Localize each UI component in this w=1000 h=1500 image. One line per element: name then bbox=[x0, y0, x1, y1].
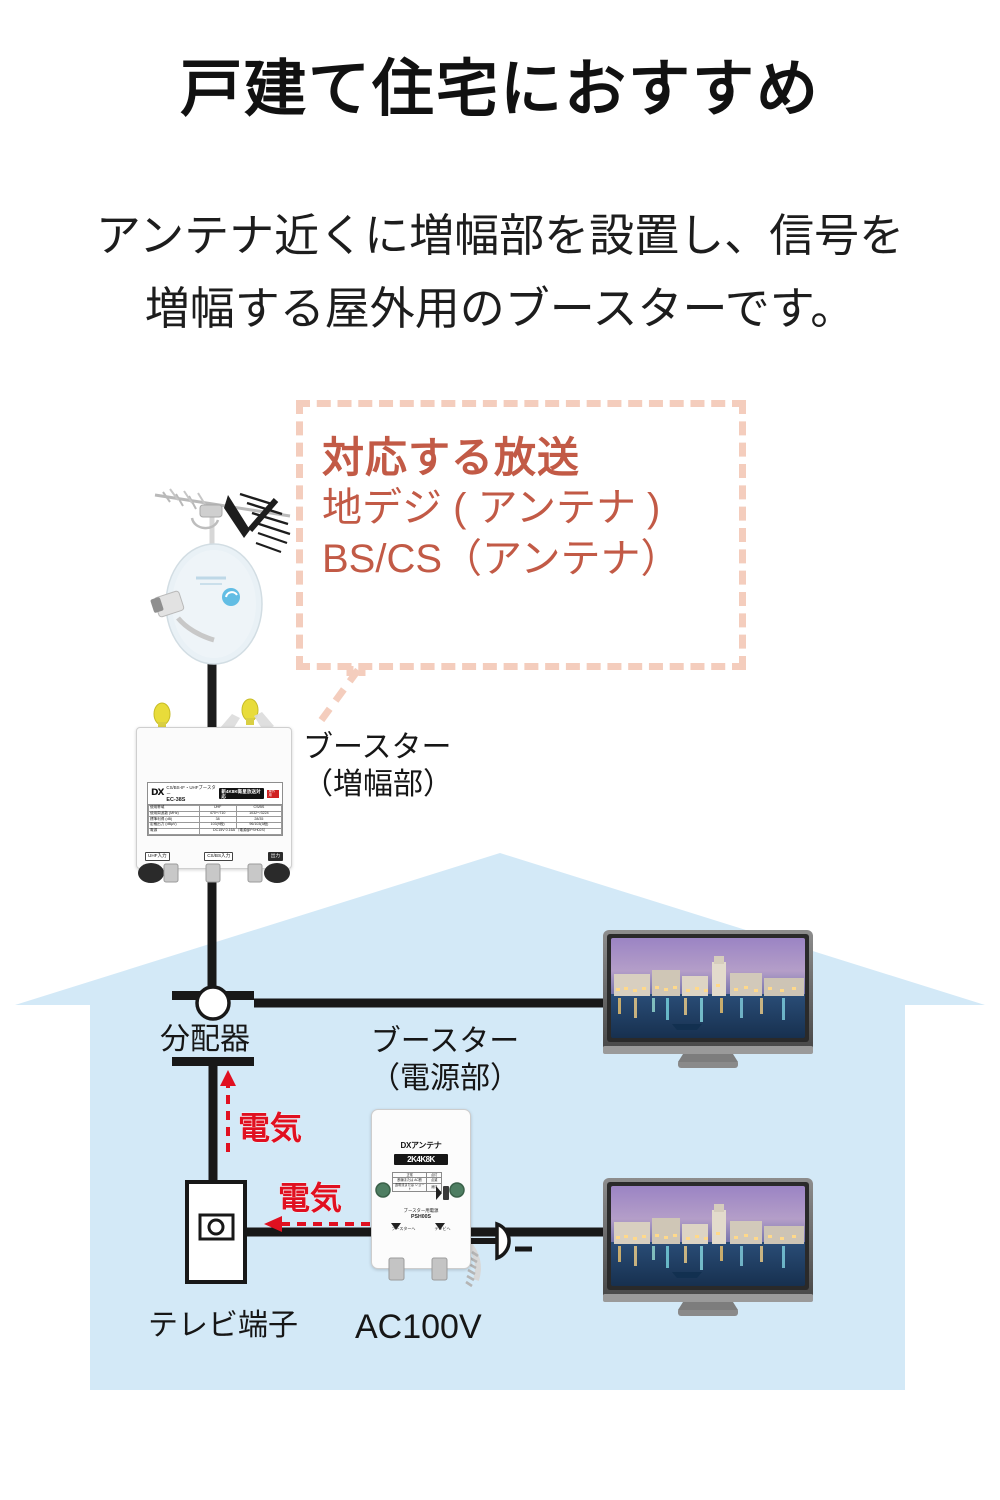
psu-status-2-key: 過電流または ショート bbox=[393, 1183, 427, 1192]
psu-model-block: ブースター用電源 PSH00S bbox=[372, 1208, 470, 1221]
label-booster-amplifier-line2: （増幅部） bbox=[303, 767, 453, 804]
psu-brand-label: DXアンテナ bbox=[372, 1140, 470, 1151]
subtitle-line-1: アンテナ近くに増幅部を設置し、信号を bbox=[0, 200, 1000, 273]
psu-port-to-tv: テレビへ bbox=[434, 1226, 450, 1232]
booster-power-supply-unit: DXアンテナ 2K4K8K 正常 点灯 断線または AC断 点滅 過電流または … bbox=[371, 1109, 471, 1269]
label-splitter: 分配器 bbox=[160, 1022, 250, 1059]
booster-4k8k-badge: 新4K8K衛星放送対応 bbox=[219, 788, 264, 799]
spec-row3-key: 電源 bbox=[149, 828, 200, 834]
booster-model-number: EC-38S bbox=[166, 797, 185, 803]
psu-status-2-val: 消灯 bbox=[427, 1183, 442, 1192]
label-booster-power-supply: ブースター （電源部） bbox=[345, 1024, 545, 1097]
callout-tail-icon bbox=[300, 664, 370, 726]
label-tv-terminal: テレビ端子 bbox=[148, 1308, 298, 1345]
dx-logo-icon: DX bbox=[151, 789, 163, 799]
page-subtitle: アンテナ近くに増幅部を設置し、信号を 増幅する屋外用のブースターです。 bbox=[0, 200, 1000, 346]
uhf-yagi-antenna bbox=[155, 489, 290, 552]
booster-amplifier-unit: DX CS/BS-IF・UHFブースター EC-38S 新4K8K衛星放送対応 … bbox=[136, 727, 292, 869]
booster-port-labels: UHF入力 CS/BS入力 出力 bbox=[145, 852, 283, 861]
bs-cs-satellite-dish bbox=[150, 544, 262, 664]
psu-model-label: ブースター用電源 bbox=[404, 1208, 439, 1213]
port-uhf-input: UHF入力 bbox=[145, 852, 170, 861]
label-booster-ps-line1: ブースター bbox=[345, 1024, 545, 1061]
label-booster-amplifier-line1: ブースター bbox=[303, 730, 453, 767]
callout-line-terrestrial: 地デジ ( アンテナ ) bbox=[322, 483, 742, 534]
table-row: 電源 DC15V 0.16A （電源部PSH02S） bbox=[149, 828, 282, 834]
psu-port-labels: ブースターへ テレビへ bbox=[382, 1226, 460, 1232]
label-booster-amplifier: ブースター （増幅部） bbox=[303, 730, 453, 803]
booster-spec-table: 使用帯域 UHF CS/BS 使用周波数 (MHz) 470～710 1032～… bbox=[148, 805, 282, 835]
port-csbs-input: CS/BS入力 bbox=[204, 852, 233, 861]
psu-port-to-booster: ブースターへ bbox=[392, 1226, 416, 1232]
table-row: 過電流または ショート 消灯 bbox=[393, 1183, 442, 1192]
television-bottom bbox=[600, 1176, 816, 1326]
psu-2k4k8k-badge: 2K4K8K bbox=[394, 1154, 448, 1165]
supported-broadcast-callout-text: 対応する放送 地デジ ( アンテナ ) BS/CS（アンテナ） bbox=[322, 432, 742, 586]
page-title: 戸建て住宅におすすめ bbox=[0, 56, 1000, 124]
booster-spec-label: DX CS/BS-IF・UHFブースター EC-38S 新4K8K衛星放送対応 … bbox=[147, 782, 283, 836]
callout-heading: 対応する放送 bbox=[322, 432, 742, 483]
psu-model-number: PSH00S bbox=[411, 1214, 431, 1220]
label-booster-ps-line2: （電源部） bbox=[345, 1061, 545, 1098]
booster-product-name: CS/BS-IF・UHFブースター bbox=[166, 785, 215, 796]
booster-brand-row: DX CS/BS-IF・UHFブースター EC-38S 新4K8K衛星放送対応 … bbox=[148, 783, 282, 805]
booster-small-badge: 屋外用 bbox=[267, 790, 279, 798]
label-electricity-2: 電気 bbox=[278, 1173, 342, 1219]
label-electricity-1: 電気 bbox=[238, 1103, 302, 1149]
label-ac-outlet: AC100V bbox=[355, 1307, 482, 1348]
spec-row3-value: DC15V 0.16A （電源部PSH02S） bbox=[199, 828, 281, 834]
callout-line-satellite: BS/CS（アンテナ） bbox=[322, 534, 742, 585]
television-top bbox=[600, 928, 816, 1078]
psu-status-table: 正常 点灯 断線または AC断 点滅 過電流または ショート 消灯 bbox=[392, 1172, 442, 1192]
subtitle-line-2: 増幅する屋外用のブースターです。 bbox=[0, 273, 1000, 346]
port-output: 出力 bbox=[268, 852, 283, 861]
